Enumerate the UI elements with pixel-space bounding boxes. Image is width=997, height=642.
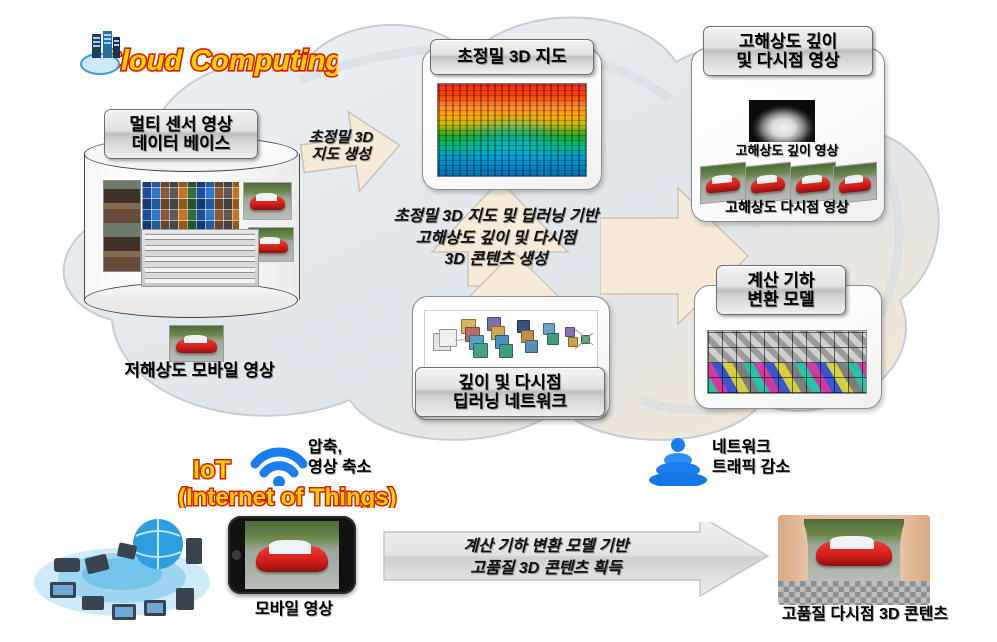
arrow-bottom-label: 계산 기하 변환 모델 기반 고품질 3D 콘텐츠 획득 <box>396 536 696 579</box>
deep-network-diagram-image <box>424 310 598 368</box>
cloud-server-icon <box>80 28 126 76</box>
iot-devices-globe-icon <box>30 508 215 628</box>
network-traffic-label: 네트워크 트래픽 감소 <box>712 438 872 478</box>
highquality-multiview-result-label: 고품질 다시점 3D 콘텐츠 <box>742 606 988 624</box>
precise-3d-map-image <box>437 83 587 177</box>
multi-sensor-database-caption: 멀티 센서 영상 데이터 베이스 <box>104 109 258 159</box>
server-rack-image <box>141 229 259 287</box>
cloud-computing-title-text: Cloud Computing <box>100 45 338 77</box>
depth-multiview-deepnet-caption: 깊이 및 다시점 딥러닝 네트워크 <box>415 367 605 417</box>
mobile-phone-device <box>228 516 356 594</box>
multiview-3d-result-device <box>778 515 930 605</box>
precise-3d-map-caption: 초정밀 3D 지도 <box>430 39 594 75</box>
iot-title-line1: IoT <box>193 456 231 484</box>
lowres-mobile-thumbnail <box>169 325 224 362</box>
iot-title: IoT (Internet of Things) <box>178 450 478 508</box>
sample-car-image-1 <box>243 182 292 220</box>
image-mosaic-grid <box>142 182 239 232</box>
arrow-db-to-map-label: 초정밀 3D 지도 생성 <box>297 129 385 164</box>
mobile-video-label: 모바일 영상 <box>232 601 356 619</box>
sensor-photo-stack <box>103 180 141 272</box>
learned-filters-image <box>707 330 867 394</box>
highres-multiview-sublabel: 고해상도 다시점 영상 <box>691 199 883 215</box>
highres-multiview-strip <box>700 162 876 202</box>
highres-depth-sublabel: 고해상도 깊이 영상 <box>693 144 881 159</box>
highres-depth-image <box>749 100 815 142</box>
computational-geometry-model-caption: 계산 기하 변환 모델 <box>716 265 846 315</box>
arrow-center-label: 초정밀 3D 지도 및 딥러닝 기반 고해상도 깊이 및 다시점 3D 콘텐츠 … <box>352 206 640 271</box>
diagram-canvas: Cloud Computing 멀티 센서 영상 데이터 베이스 저해상도 모바… <box>0 0 997 642</box>
lowres-mobile-label: 저해상도 모바일 영상 <box>102 361 297 381</box>
iot-title-line2: (Internet of Things) <box>178 484 397 508</box>
highres-depth-multiview-caption: 고해상도 깊이 및 다시점 영상 <box>703 26 873 76</box>
broadcast-icon <box>648 436 708 486</box>
